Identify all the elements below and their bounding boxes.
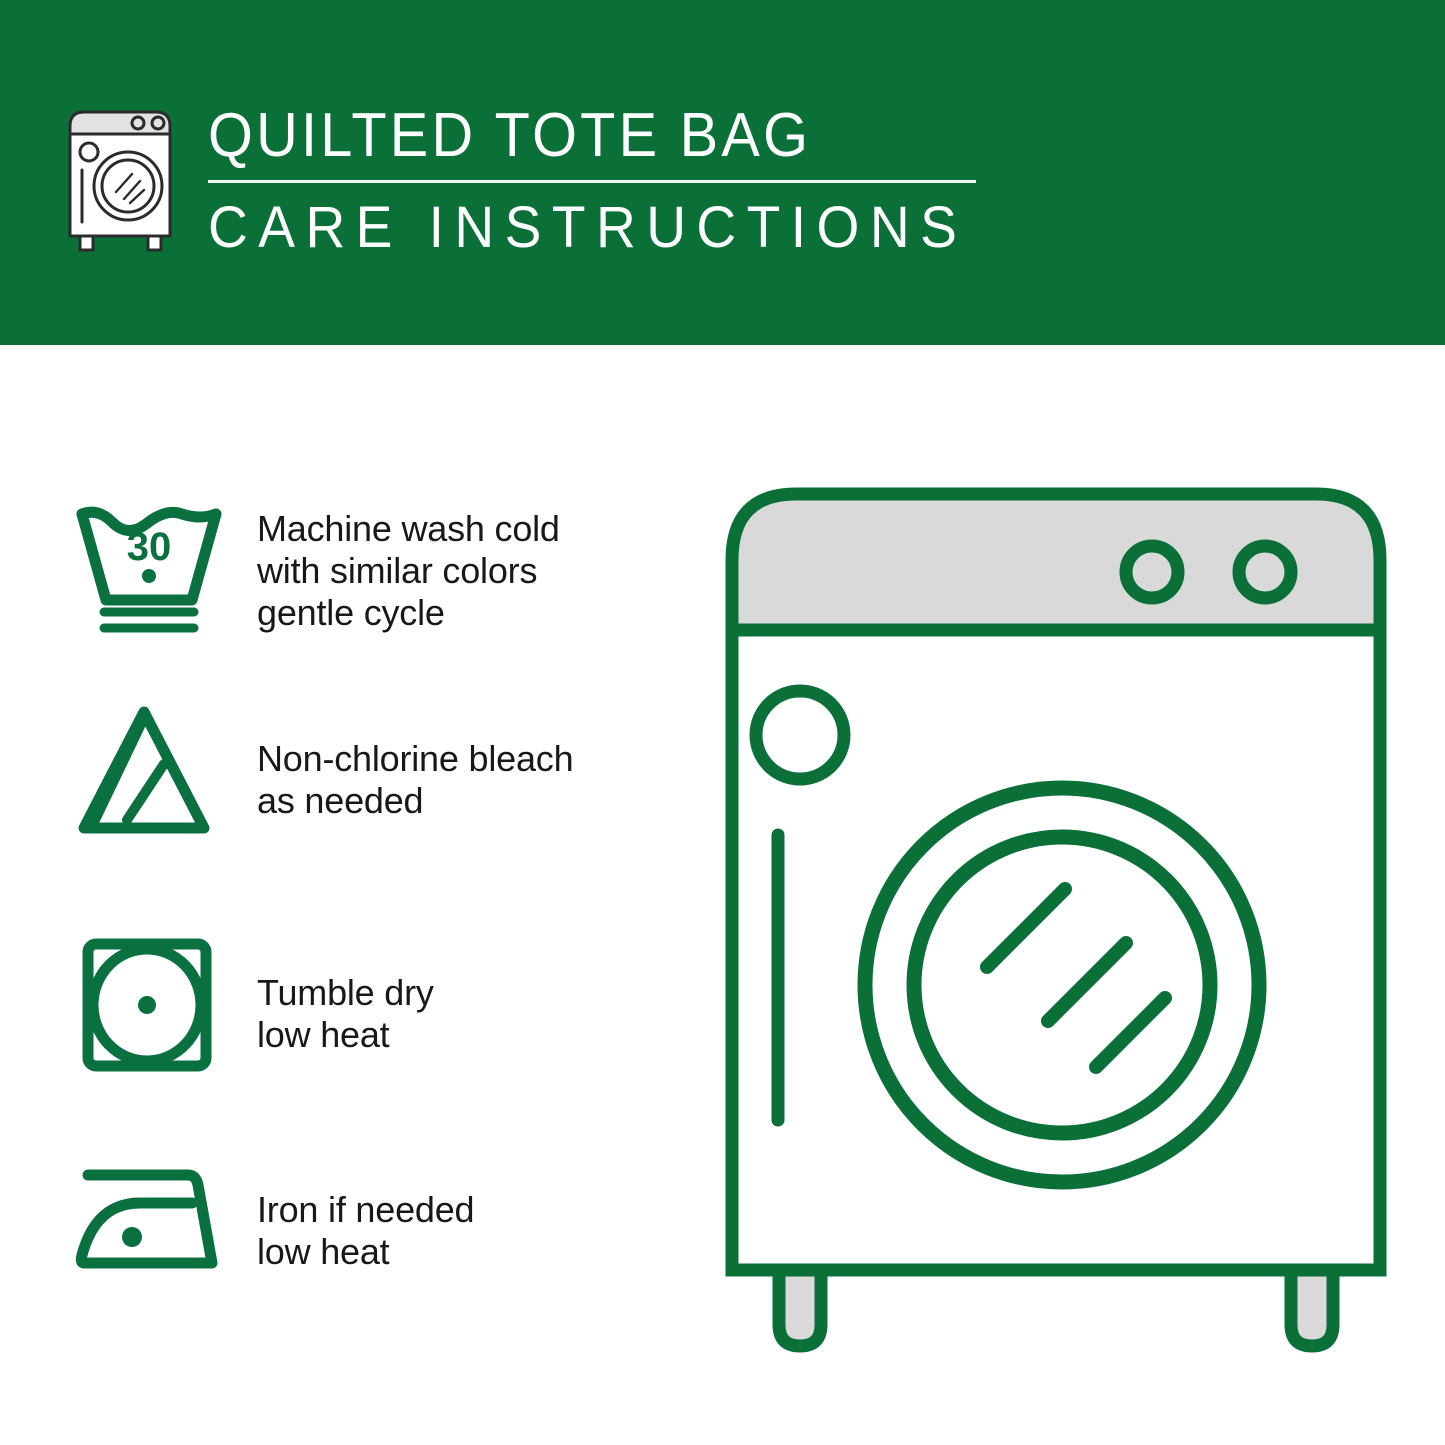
washer-drum-inner <box>914 837 1210 1133</box>
washer-knob-icon <box>1126 546 1178 598</box>
page-subtitle: CARE INSTRUCTIONS <box>208 195 1063 261</box>
washer-leg-left <box>779 1270 821 1346</box>
dryer-heat-dot-icon <box>138 996 156 1014</box>
wash-tub-30-icon: 30 <box>70 492 235 642</box>
care-instruction-row: Iron if needed low heat <box>70 1145 690 1295</box>
care-instruction-row: Tumble dry low heat <box>70 930 690 1080</box>
care-instructions-page: QUILTED TOTE BAG CARE INSTRUCTIONS 30 Ma… <box>0 0 1445 1445</box>
care-instruction-text: Machine wash cold with similar colors ge… <box>257 508 560 634</box>
wash-dot-icon <box>142 569 156 583</box>
care-instruction-row: 30 Machine wash cold with similar colors… <box>70 492 690 642</box>
care-instruction-text: Tumble dry low heat <box>257 972 434 1056</box>
tumble-dry-low-icon <box>70 930 235 1080</box>
washer-knob-icon <box>1239 546 1291 598</box>
header-text-block: QUILTED TOTE BAG CARE INSTRUCTIONS <box>208 100 1108 261</box>
iron-low-heat-icon <box>70 1145 235 1295</box>
page-title: QUILTED TOTE BAG <box>208 100 1045 172</box>
care-instruction-text: Iron if needed low heat <box>257 1189 474 1273</box>
washer-leg-right <box>1291 1270 1333 1346</box>
header-divider <box>208 180 976 183</box>
bleach-triangle-icon <box>70 700 235 850</box>
wash-temperature-label: 30 <box>127 525 172 569</box>
header-band: QUILTED TOTE BAG CARE INSTRUCTIONS <box>0 0 1445 345</box>
washer-indicator-light-icon <box>756 691 844 779</box>
care-instruction-row: Non-chlorine bleach as needed <box>70 700 690 850</box>
front-load-washing-machine-illustration <box>722 480 1390 1360</box>
iron-heat-dot-icon <box>122 1227 142 1247</box>
care-instruction-text: Non-chlorine bleach as needed <box>257 738 573 822</box>
washing-machine-icon <box>62 104 184 252</box>
